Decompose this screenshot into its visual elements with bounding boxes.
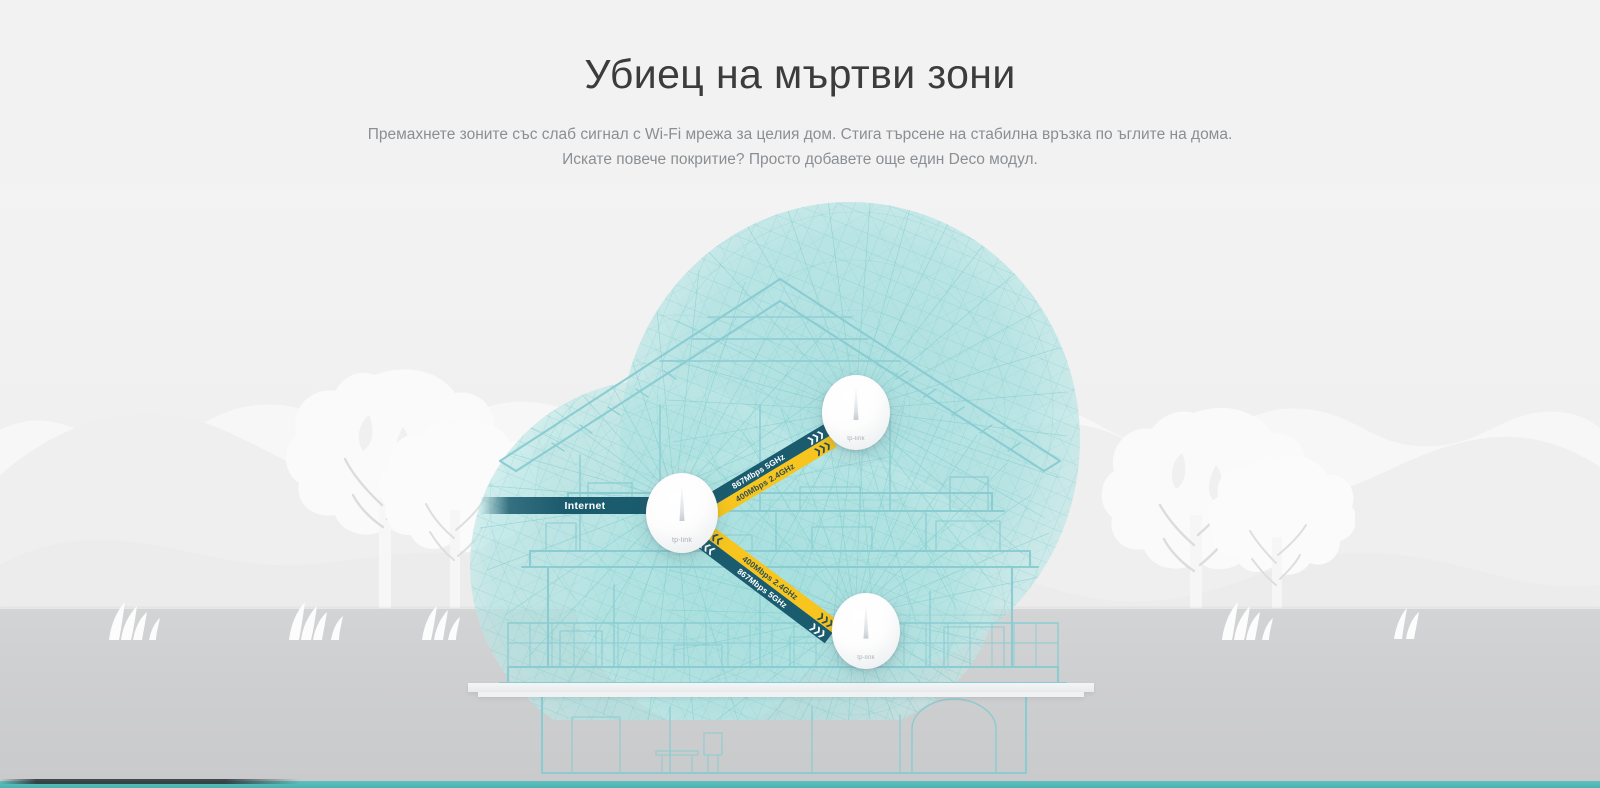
deco-unit-main[interactable]: tp-link bbox=[646, 473, 718, 553]
house-cutaway-illustration bbox=[460, 255, 1100, 785]
house-foundation-lower bbox=[478, 692, 1084, 697]
grass-tuft-5 bbox=[1390, 605, 1430, 644]
grass-tuft-1 bbox=[105, 600, 167, 645]
house-foundation bbox=[468, 683, 1094, 692]
deco-unit-attic[interactable]: tp-link bbox=[822, 375, 890, 450]
subtitle-line-2: Искате повече покритие? Просто добавете … bbox=[300, 147, 1300, 172]
tplink-logo: tp-link bbox=[857, 655, 874, 661]
page-title: Убиец на мъртви зони bbox=[0, 52, 1600, 98]
illustration-scene: Internet ❮❮❮ 867Mbps 5GHz ❯❯❯ ❮❮❮ 400Mbp… bbox=[0, 185, 1600, 788]
section-subtitle: Премахнете зоните със слаб сигнал с Wi-F… bbox=[300, 122, 1300, 172]
deadzone-killer-section: Убиец на мъртви зони Премахнете зоните с… bbox=[0, 0, 1600, 788]
subtitle-line-1: Премахнете зоните със слаб сигнал с Wi-F… bbox=[300, 122, 1300, 147]
internet-label: Internet bbox=[565, 500, 606, 512]
deco-unit-lower[interactable]: tp-link bbox=[832, 593, 900, 669]
tplink-logo: tp-link bbox=[672, 537, 692, 544]
section-header: Убиец на мъртви зони Премахнете зоните с… bbox=[0, 0, 1600, 172]
tplink-logo: tp-link bbox=[847, 436, 864, 442]
grass-tuft-4 bbox=[1218, 600, 1280, 645]
next-section-dark-edge bbox=[0, 779, 300, 784]
grass-tuft-2 bbox=[285, 600, 351, 645]
